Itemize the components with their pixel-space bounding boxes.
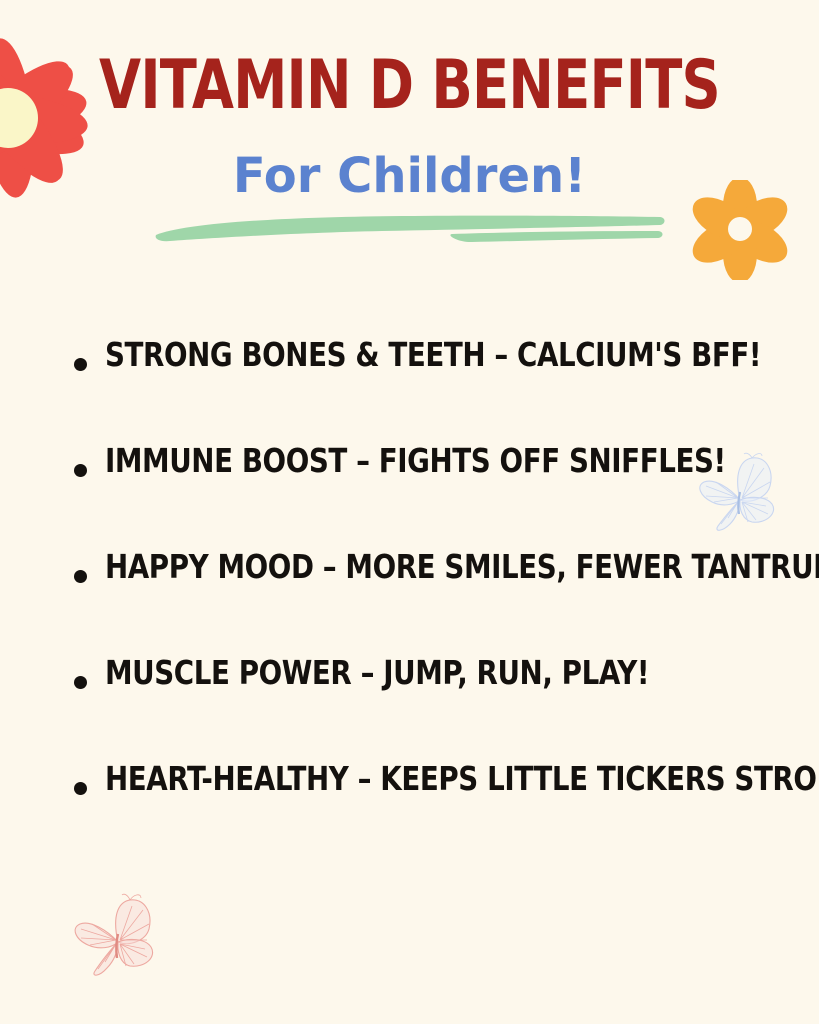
bullet-dot-icon bbox=[74, 570, 87, 583]
benefit-text: HAPPY MOOD – MORE SMILES, FEWER TANTRUMS… bbox=[105, 544, 819, 590]
pink-butterfly-icon bbox=[68, 892, 168, 980]
bullet-dot-icon bbox=[74, 676, 87, 689]
benefit-text: MUSCLE POWER – JUMP, RUN, PLAY! bbox=[105, 650, 649, 696]
list-item: IMMUNE BOOST – FIGHTS OFF SNIFFLES! bbox=[0, 438, 819, 544]
benefit-text: HEART-HEALTHY – KEEPS LITTLE TICKERS STR… bbox=[105, 756, 819, 802]
list-item: STRONG BONES & TEETH – CALCIUM'S BFF! bbox=[0, 332, 819, 438]
list-item: HAPPY MOOD – MORE SMILES, FEWER TANTRUMS… bbox=[0, 544, 819, 650]
page-subtitle: For Children! bbox=[0, 147, 819, 205]
benefit-text: IMMUNE BOOST – FIGHTS OFF SNIFFLES! bbox=[105, 438, 726, 484]
bullet-dot-icon bbox=[74, 782, 87, 795]
bullet-dot-icon bbox=[74, 464, 87, 477]
list-item: MUSCLE POWER – JUMP, RUN, PLAY! bbox=[0, 650, 819, 756]
bullet-dot-icon bbox=[74, 358, 87, 371]
green-brush-underline bbox=[152, 208, 668, 246]
benefit-text: STRONG BONES & TEETH – CALCIUM'S BFF! bbox=[105, 332, 761, 378]
page-title: VITAMIN D BENEFITS bbox=[82, 46, 737, 126]
poster-canvas: VITAMIN D BENEFITS For Children! STRONG … bbox=[0, 0, 819, 1024]
list-item: HEART-HEALTHY – KEEPS LITTLE TICKERS STR… bbox=[0, 756, 819, 862]
benefits-list: STRONG BONES & TEETH – CALCIUM'S BFF! IM… bbox=[0, 332, 819, 862]
